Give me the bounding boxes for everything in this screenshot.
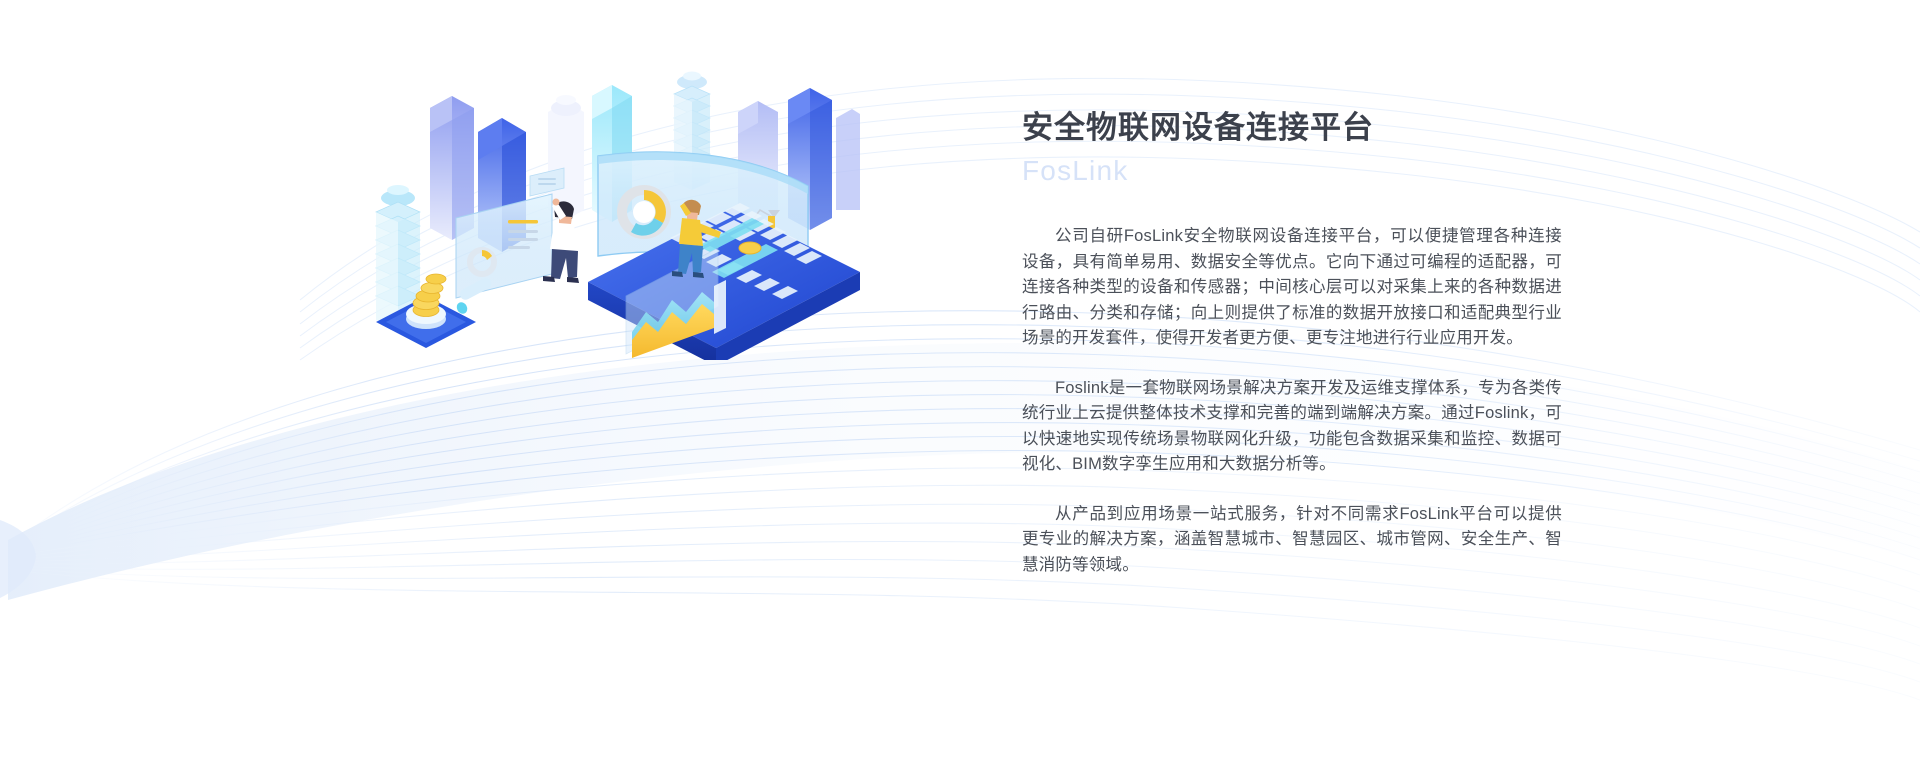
page-title: 安全物联网设备连接平台 [1022,106,1562,150]
isometric-iot-platform-illustration [340,60,860,360]
building-far-right-violet [836,109,860,210]
page-subtitle: FosLink [1022,152,1562,190]
description-block: 公司自研FosLink安全物联网设备连接平台，可以便捷管理各种连接设备，具有简单… [1022,224,1562,578]
description-paragraph-1: 公司自研FosLink安全物联网设备连接平台，可以便捷管理各种连接设备，具有简单… [1022,224,1562,352]
platform-coin [739,242,761,254]
description-paragraph-2: Foslink是一套物联网场景解决方案开发及运维支撑体系，专为各类传统行业上云提… [1022,376,1562,478]
hero-text-column: 安全物联网设备连接平台 FosLink 公司自研FosLink安全物联网设备连接… [1022,106,1562,578]
hero-banner-page: 安全物联网设备连接平台 FosLink 公司自研FosLink安全物联网设备连接… [0,0,1920,760]
description-paragraph-3: 从产品到应用场景一站式服务，针对不同需求FosLink平台可以提供更专业的解决方… [1022,502,1562,579]
background-wave-decoration [0,0,1920,760]
